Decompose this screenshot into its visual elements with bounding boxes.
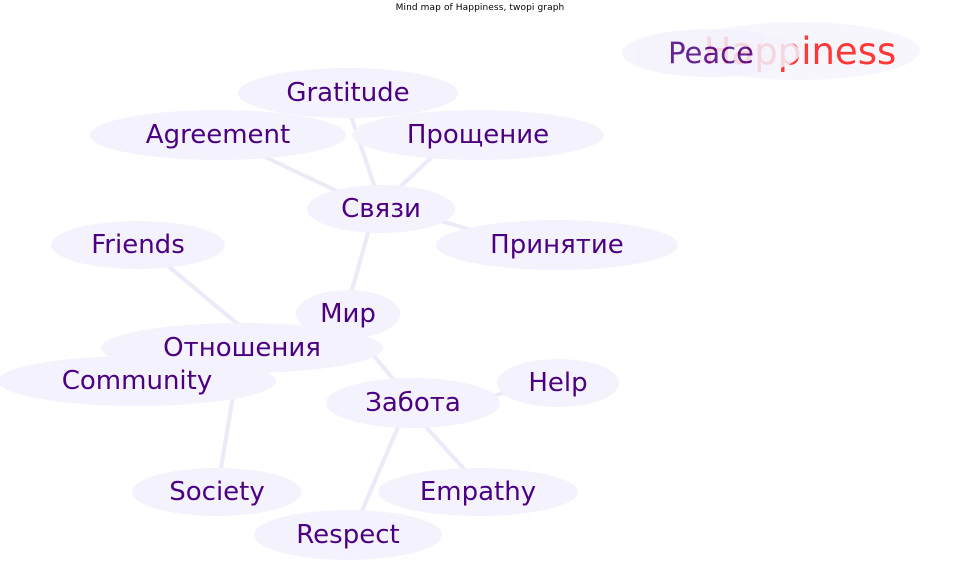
graph-node-label: Empathy — [420, 479, 536, 505]
graph-node-label: Gratitude — [286, 80, 409, 106]
graph-node-agreement[interactable]: Agreement — [90, 110, 346, 160]
graph-node-gratitude[interactable]: Gratitude — [238, 68, 458, 118]
graph-node-help[interactable]: Help — [497, 359, 619, 407]
graph-node-peace[interactable]: Peace — [622, 29, 800, 77]
mind-map-canvas: Mind map of Happiness, twopi graph Happi… — [0, 0, 960, 569]
node-layer: HappinessPeaceGratitudeAgreementПрощение… — [0, 0, 960, 569]
graph-node-label: Help — [528, 370, 587, 396]
graph-node-label: Прощение — [407, 122, 549, 148]
graph-node-forgiveness[interactable]: Прощение — [352, 110, 604, 160]
graph-node-acceptance[interactable]: Принятие — [436, 220, 678, 270]
graph-node-label: Связи — [341, 196, 421, 222]
graph-node-connections[interactable]: Связи — [307, 185, 455, 233]
graph-node-label: Забота — [365, 390, 461, 416]
graph-node-community[interactable]: Community — [0, 356, 276, 406]
graph-node-label: Respect — [296, 522, 399, 548]
graph-node-friends[interactable]: Friends — [51, 221, 225, 269]
graph-node-care[interactable]: Забота — [326, 378, 500, 428]
graph-node-label: Принятие — [490, 232, 624, 258]
graph-node-society[interactable]: Society — [132, 468, 302, 516]
graph-node-respect[interactable]: Respect — [254, 510, 442, 560]
graph-node-label: Society — [169, 479, 265, 505]
graph-node-label: Friends — [91, 232, 185, 258]
graph-node-label: Agreement — [146, 122, 290, 148]
graph-node-label: Community — [62, 368, 212, 394]
graph-node-label: Peace — [668, 39, 754, 68]
graph-node-label: Мир — [320, 301, 376, 327]
graph-node-empathy[interactable]: Empathy — [378, 468, 578, 516]
